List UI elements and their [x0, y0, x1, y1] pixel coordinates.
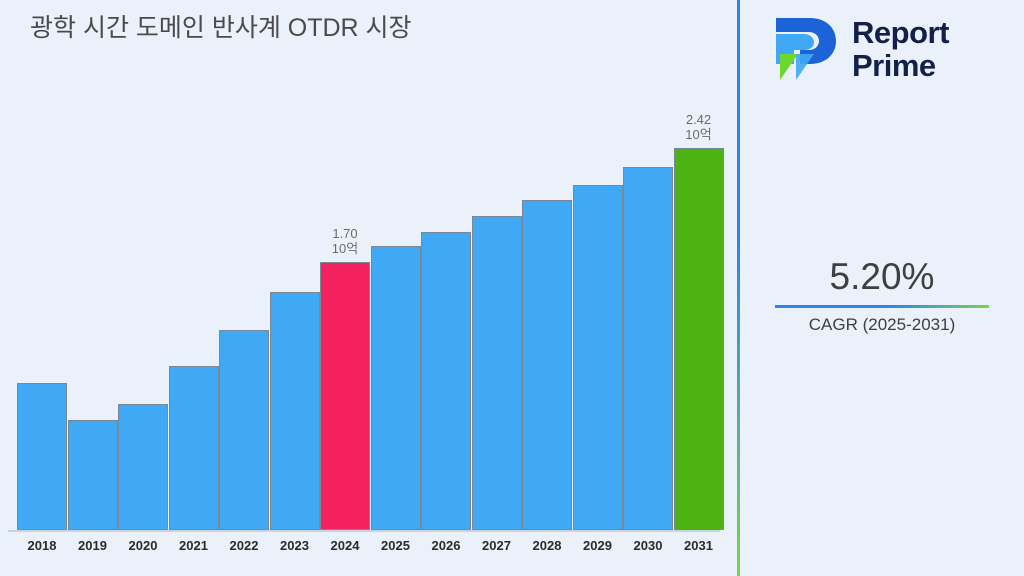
bar-rect-2025 [371, 246, 421, 530]
branding-panel: Report Prime 5.20% CAGR (2025-2031) [740, 0, 1024, 576]
bar-rect-2019 [68, 420, 118, 530]
x-axis-line [8, 530, 720, 532]
bar-rect-2027 [472, 216, 522, 530]
bar-rect-2018 [17, 383, 67, 530]
chart-page: 광학 시간 도메인 반사계 OTDR 시장 1.70 10억2.42 10억 2… [0, 0, 1024, 576]
bar-rect-2028 [522, 200, 572, 530]
bar-rect-2024 [320, 262, 370, 530]
bar-rect-2021 [169, 366, 219, 530]
bar-rect-2023 [270, 292, 320, 530]
logo-text-line2: Prime [852, 48, 936, 83]
x-tick-2031: 2031 [664, 538, 734, 553]
bar-rect-2031 [674, 148, 724, 530]
bar-rect-2030 [623, 167, 673, 530]
bar-rect-2022 [219, 330, 269, 530]
page-title: 광학 시간 도메인 반사계 OTDR 시장 [30, 10, 630, 46]
bar-rect-2026 [421, 232, 471, 530]
bar-rect-2029 [573, 185, 623, 530]
bar-value-label-2024: 1.70 10억 [310, 226, 380, 256]
cagr-block: 5.20% CAGR (2025-2031) [740, 255, 1024, 335]
cagr-caption: CAGR (2025-2031) [740, 315, 1024, 335]
chart-panel: 광학 시간 도메인 반사계 OTDR 시장 1.70 10억2.42 10억 2… [0, 0, 736, 576]
plot-area: 1.70 10억2.42 10억 [0, 120, 736, 532]
report-prime-logo-icon [770, 14, 842, 84]
bar-value-label-2031: 2.42 10억 [664, 112, 734, 142]
x-axis-tick-labels: 2018201920202021202220232024202520262027… [0, 538, 736, 562]
logo-text: Report Prime [852, 16, 949, 82]
logo-text-line1: Report [852, 15, 949, 50]
bar-rect-2020 [118, 404, 168, 530]
cagr-divider [775, 305, 989, 308]
logo: Report Prime [770, 14, 949, 84]
cagr-value: 5.20% [740, 255, 1024, 299]
